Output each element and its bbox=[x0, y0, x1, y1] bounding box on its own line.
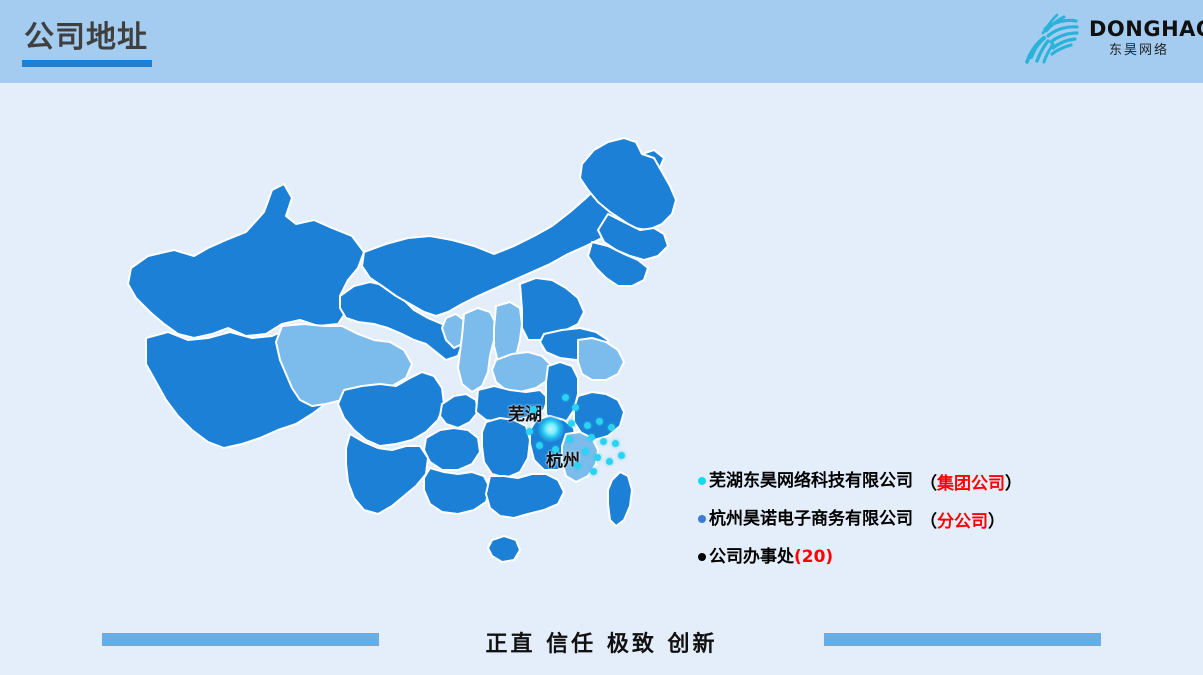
marker-office[interactable] bbox=[618, 452, 625, 459]
marker-office[interactable] bbox=[562, 394, 569, 401]
province-xinjiang bbox=[128, 184, 364, 338]
legend-bullet-black-icon bbox=[698, 553, 706, 561]
marker-office[interactable] bbox=[612, 440, 619, 447]
province-hunan bbox=[482, 418, 530, 478]
legend-item-group-company: 芜湖东昊网络科技有限公司 （集团公司） bbox=[698, 462, 1098, 500]
logo-subtitle: 东昊网络 bbox=[1089, 42, 1189, 60]
legend-item-branch-company: 杭州昊诺电子商务有限公司 （分公司） bbox=[698, 500, 1098, 538]
legend-label-offices: 公司办事处 bbox=[709, 547, 794, 567]
title-underline bbox=[22, 60, 152, 67]
marker-office[interactable] bbox=[526, 428, 533, 435]
marker-office[interactable] bbox=[568, 420, 575, 427]
marker-office[interactable] bbox=[574, 462, 581, 469]
legend: 芜湖东昊网络科技有限公司 （集团公司） 杭州昊诺电子商务有限公司 （分公司） 公… bbox=[698, 462, 1098, 576]
china-map: 芜湖 杭州 bbox=[96, 128, 696, 608]
marker-office[interactable] bbox=[590, 468, 597, 475]
company-logo: DONGHAO 东昊网络 bbox=[1017, 6, 1189, 74]
province-guangdong bbox=[486, 474, 564, 518]
marker-headquarters-wuhu[interactable] bbox=[538, 416, 564, 442]
province-jiangsu bbox=[578, 338, 624, 380]
logo-name: DONGHAO bbox=[1089, 18, 1189, 41]
marker-office[interactable] bbox=[572, 404, 579, 411]
province-guangxi bbox=[424, 468, 490, 514]
legend-office-count: (20) bbox=[794, 547, 833, 567]
marker-office[interactable] bbox=[600, 438, 607, 445]
province-hainan bbox=[488, 536, 520, 562]
legend-bullet-blue-icon bbox=[698, 515, 706, 523]
legend-item-offices: 公司办事处 (20) bbox=[698, 538, 1098, 576]
marker-office[interactable] bbox=[536, 442, 543, 449]
logo-text-block: DONGHAO 东昊网络 bbox=[1089, 18, 1189, 60]
marker-office[interactable] bbox=[606, 458, 613, 465]
marker-office[interactable] bbox=[596, 418, 603, 425]
page-title: 公司地址 bbox=[24, 21, 148, 55]
slide-canvas: 公司地址 DONGHAO 东昊网络 bbox=[0, 0, 1203, 675]
paren-close: ） bbox=[988, 512, 1005, 532]
legend-bullet-cyan-icon bbox=[698, 477, 706, 485]
province-guizhou bbox=[424, 428, 480, 470]
china-map-svg bbox=[96, 128, 696, 608]
marker-office[interactable] bbox=[566, 436, 573, 443]
province-shaanxi bbox=[458, 308, 496, 392]
marker-office[interactable] bbox=[588, 434, 595, 441]
paren-open: （ bbox=[920, 512, 937, 532]
footer-slogan: 正直 信任 极致 创新 bbox=[0, 626, 1203, 658]
donghao-wing-logo-icon bbox=[1021, 8, 1087, 72]
marker-office[interactable] bbox=[584, 422, 591, 429]
legend-label-group-company: 芜湖东昊网络科技有限公司 bbox=[709, 471, 913, 491]
paren-close: ） bbox=[1005, 474, 1022, 494]
paren-open: （ bbox=[920, 474, 937, 494]
legend-tag-branch-company: （分公司） bbox=[920, 507, 1005, 532]
marker-office[interactable] bbox=[582, 448, 589, 455]
province-chongqing bbox=[440, 394, 478, 428]
legend-tag-text: 集团公司 bbox=[937, 474, 1005, 494]
province-henan bbox=[492, 352, 552, 392]
map-label-wuhu: 芜湖 bbox=[508, 400, 542, 425]
marker-office[interactable] bbox=[552, 446, 559, 453]
legend-tag-text: 分公司 bbox=[937, 512, 988, 532]
legend-tag-group-company: （集团公司） bbox=[920, 469, 1022, 494]
marker-office[interactable] bbox=[530, 406, 537, 413]
marker-office[interactable] bbox=[594, 454, 601, 461]
legend-label-branch-company: 杭州昊诺电子商务有限公司 bbox=[709, 509, 913, 529]
province-taiwan bbox=[608, 472, 632, 526]
marker-office[interactable] bbox=[608, 424, 615, 431]
